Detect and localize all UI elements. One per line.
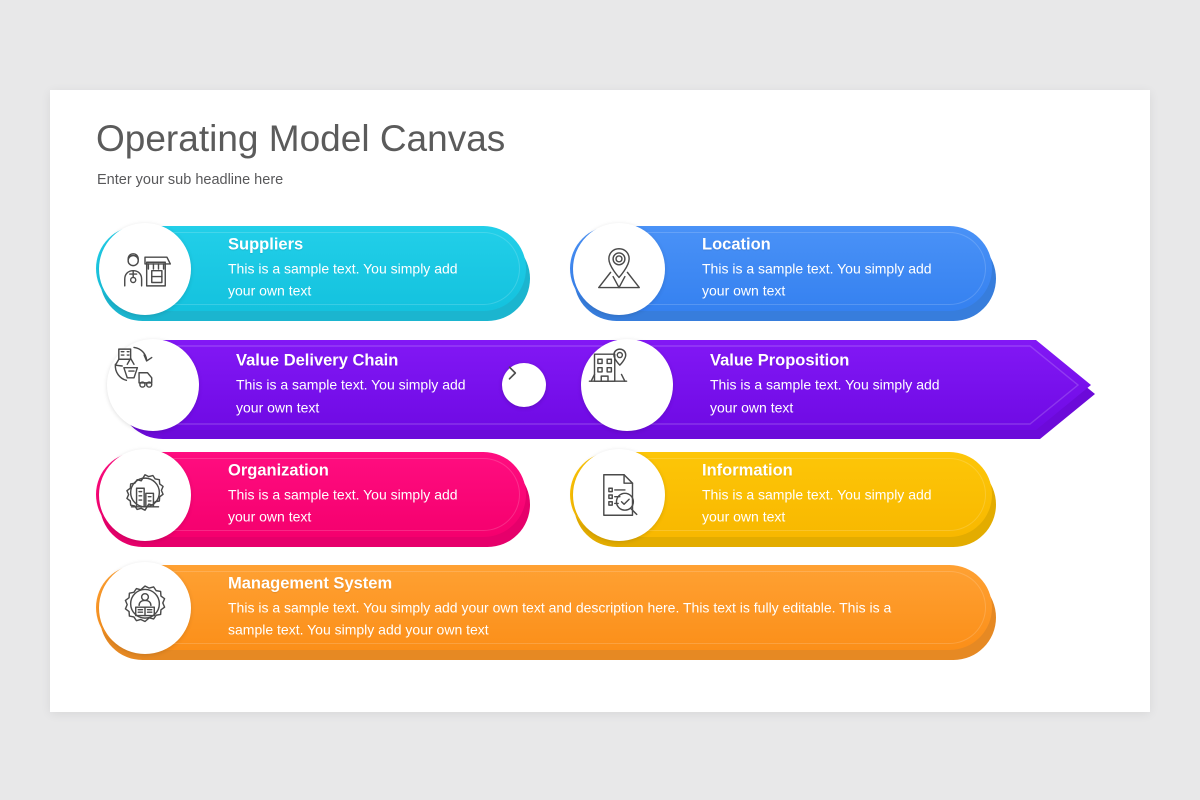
card-title: Value Proposition <box>710 351 970 370</box>
card-location[interactable]: Location This is a sample text. You simp… <box>570 226 992 311</box>
building-location-icon <box>581 339 673 431</box>
card-text: Organization This is a sample text. You … <box>228 461 488 528</box>
card-value-delivery-chain[interactable]: Value Delivery Chain This is a sample te… <box>96 326 526 444</box>
document-search-check-icon <box>573 449 665 541</box>
gear-person-book-icon <box>99 562 191 654</box>
card-title: Value Delivery Chain <box>236 351 496 370</box>
card-text: Information This is a sample text. You s… <box>702 461 962 528</box>
supply-chain-cycle-icon <box>107 339 199 431</box>
page-subtitle: Enter your sub headline here <box>97 172 283 188</box>
card-description: This is a sample text. You simply add yo… <box>710 373 970 418</box>
card-text: Suppliers This is a sample text. You sim… <box>228 235 488 302</box>
card-title: Location <box>702 235 962 254</box>
value-chain-arrow-band: Value Delivery Chain This is a sample te… <box>96 326 1098 444</box>
buildings-gear-icon <box>99 449 191 541</box>
card-description: This is a sample text. You simply add yo… <box>702 257 962 302</box>
card-title: Management System <box>228 574 908 593</box>
card-description: This is a sample text. You simply add yo… <box>702 483 962 528</box>
card-organization[interactable]: Organization This is a sample text. You … <box>96 452 526 537</box>
card-description: This is a sample text. You simply add yo… <box>236 373 496 418</box>
shop-vendor-icon <box>99 223 191 315</box>
card-title: Information <box>702 461 962 480</box>
chevron-right-icon[interactable] <box>502 363 546 407</box>
card-information[interactable]: Information This is a sample text. You s… <box>570 452 992 537</box>
card-suppliers[interactable]: Suppliers This is a sample text. You sim… <box>96 226 526 311</box>
card-value-proposition[interactable]: Value Proposition This is a sample text.… <box>570 326 1010 444</box>
card-text: Management System This is a sample text.… <box>228 574 908 641</box>
page-title: Operating Model Canvas <box>96 118 505 160</box>
card-description: This is a sample text. You simply add yo… <box>228 483 488 528</box>
card-text: Location This is a sample text. You simp… <box>702 235 962 302</box>
card-text: Value Delivery Chain This is a sample te… <box>236 351 496 418</box>
card-description: This is a sample text. You simply add yo… <box>228 257 488 302</box>
map-pin-icon <box>573 223 665 315</box>
card-description: This is a sample text. You simply add yo… <box>228 596 908 641</box>
slide-canvas: Operating Model Canvas Enter your sub he… <box>50 90 1150 712</box>
card-title: Suppliers <box>228 235 488 254</box>
card-text: Value Proposition This is a sample text.… <box>710 351 970 418</box>
card-title: Organization <box>228 461 488 480</box>
card-management-system[interactable]: Management System This is a sample text.… <box>96 565 992 650</box>
